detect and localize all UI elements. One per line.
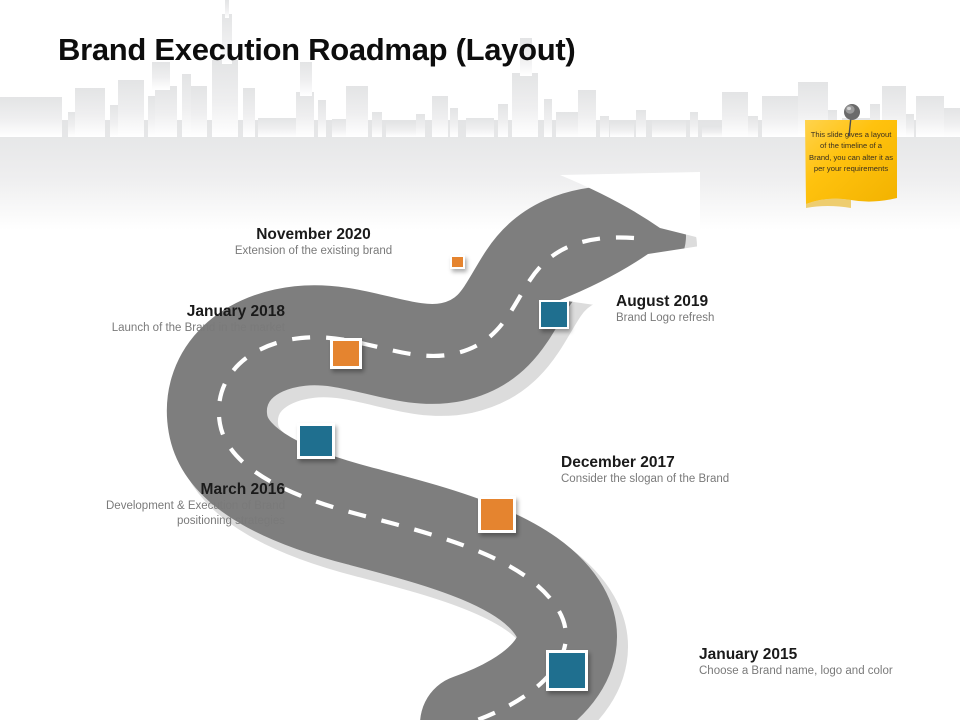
milestone-desc-december-2017: Consider the slogan of the Brand [561, 472, 729, 487]
road-perspective-mask [0, 0, 960, 720]
milestone-date-december-2017: December 2017 [561, 453, 729, 472]
milestone-marker-december-2017[interactable] [478, 496, 516, 533]
milestone-date-january-2015: January 2015 [699, 645, 893, 664]
milestone-marker-january-2015[interactable] [546, 650, 588, 691]
pushpin-icon [839, 103, 865, 137]
milestone-date-november-2020: November 2020 [196, 225, 431, 244]
milestone-label-january-2015: January 2015 Choose a Brand name, logo a… [699, 645, 893, 679]
milestone-desc-november-2020: Extension of the existing brand [196, 244, 431, 259]
page-title: Brand Execution Roadmap (Layout) [58, 32, 575, 68]
sticky-note[interactable]: This slide gives a layout of the timelin… [803, 118, 899, 210]
milestone-label-december-2017: December 2017 Consider the slogan of the… [561, 453, 729, 487]
slide-canvas: Brand Execution Roadmap (Layout) This sl… [0, 0, 960, 720]
milestone-marker-november-2020[interactable] [450, 255, 465, 269]
milestone-desc-january-2018: Launch of the Brand in the market [45, 321, 285, 336]
milestone-label-november-2020: November 2020 Extension of the existing … [196, 225, 431, 259]
milestone-desc-march-2016: Development & Execution of Brand positio… [75, 499, 285, 528]
milestone-desc-august-2019: Brand Logo refresh [616, 311, 714, 326]
milestone-marker-march-2016[interactable] [297, 423, 335, 459]
milestone-date-march-2016: March 2016 [75, 480, 285, 499]
milestone-label-january-2018: January 2018 Launch of the Brand in the … [45, 302, 285, 336]
milestone-label-march-2016: March 2016 Development & Execution of Br… [75, 480, 285, 528]
milestone-date-january-2018: January 2018 [45, 302, 285, 321]
milestone-marker-august-2019[interactable] [539, 300, 569, 329]
milestone-date-august-2019: August 2019 [616, 292, 714, 311]
milestone-marker-january-2018[interactable] [330, 338, 362, 369]
milestone-label-august-2019: August 2019 Brand Logo refresh [616, 292, 714, 326]
milestone-desc-january-2015: Choose a Brand name, logo and color [699, 664, 893, 679]
